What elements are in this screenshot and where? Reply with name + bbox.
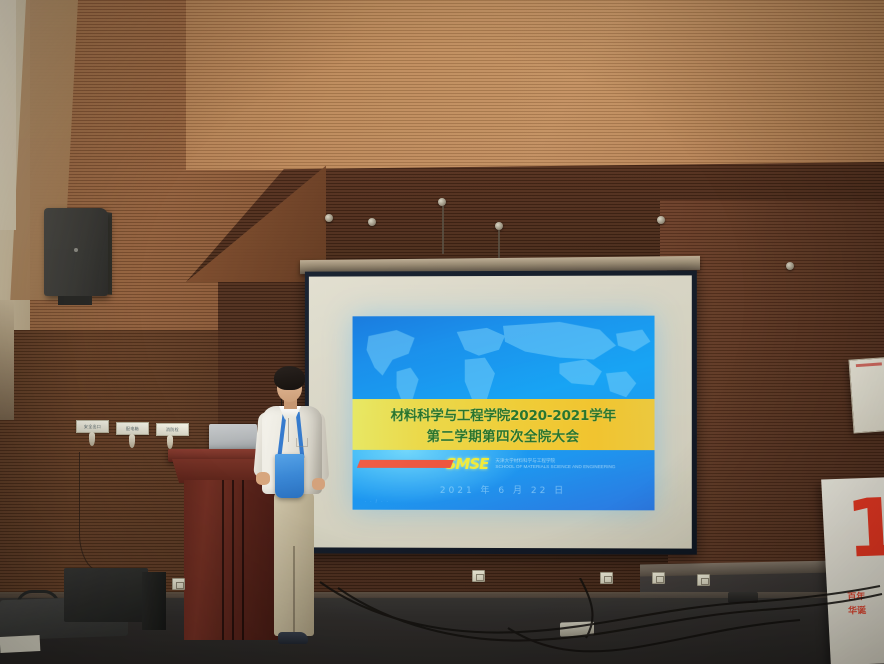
- wall-sign-3: 消防栓: [156, 423, 189, 436]
- sign-hook-3: [167, 435, 173, 449]
- screen-surface: 材料科学与工程学院2020-2021学年 第二学期第四次全院大会 SMSE 天津…: [309, 275, 692, 548]
- badge-holder: [275, 454, 304, 498]
- ceiling-spotlight-icon: [657, 216, 665, 224]
- logo-subtitle: 天津大学材料科学与工程学院 SCHOOL OF MATERIALS SCIENC…: [495, 458, 615, 471]
- logo-subtitle-en: SCHOOL OF MATERIALS SCIENCE AND ENGINEER…: [495, 464, 615, 470]
- ceiling-spotlight-icon: [495, 222, 503, 230]
- sign-hook-2: [129, 434, 135, 448]
- podium-groove: [222, 480, 224, 640]
- poster-number: 1: [844, 495, 884, 562]
- sign-hook-1: [89, 432, 95, 446]
- projection-screen: 材料科学与工程学院2020-2021学年 第二学期第四次全院大会 SMSE 天津…: [305, 270, 697, 554]
- spotlight-stem: [442, 206, 444, 254]
- presenter-hair: [274, 366, 305, 390]
- speaker-mount-bracket: [58, 296, 92, 305]
- framed-notice: [848, 356, 884, 433]
- floor-cables: [280, 578, 884, 664]
- slide-date: 2021 年 6 月 22 日: [353, 483, 655, 497]
- ceiling-spotlight-icon: [438, 198, 446, 206]
- podium-groove: [242, 480, 244, 640]
- slide-title-band: 材料科学与工程学院2020-2021学年 第二学期第四次全院大会: [353, 399, 655, 450]
- podium-groove: [232, 480, 234, 640]
- ceiling-spotlight-icon: [786, 262, 794, 270]
- ceiling-spotlight-icon: [368, 218, 376, 226]
- slide-title-line-1: 材料科学与工程学院2020-2021学年: [391, 404, 616, 424]
- wall-upper-right: [186, 0, 884, 170]
- hanging-cable: [79, 452, 101, 572]
- paper-on-floor: [0, 635, 40, 653]
- logo-red-bar: [357, 460, 453, 468]
- shirt-placket: [288, 418, 289, 442]
- presenter-right-hand: [312, 478, 325, 490]
- presenter-left-hand: [256, 472, 270, 485]
- smse-logo-icon: SMSE: [446, 455, 489, 473]
- shirt-pocket: [296, 438, 308, 447]
- equipment-case-b: [64, 568, 148, 622]
- equipment-case-c: [142, 572, 166, 630]
- loudspeaker-icon: [44, 208, 108, 296]
- notice-header-bar: [856, 362, 882, 367]
- slide-footer: · · / · ·: [365, 499, 390, 504]
- wall-outlet-icon: [172, 578, 185, 590]
- projected-slide: 材料科学与工程学院2020-2021学年 第二学期第四次全院大会 SMSE 天津…: [353, 316, 655, 511]
- photo-scene: 安全出口 配电箱 消防栓: [0, 0, 884, 664]
- slide-logo-row: SMSE 天津大学材料科学与工程学院 SCHOOL OF MATERIALS S…: [353, 453, 655, 477]
- world-map-graphic: [353, 316, 655, 408]
- left-wall-sliver: [0, 300, 14, 420]
- ceiling-spotlight-icon: [325, 214, 333, 222]
- slide-title-line-2: 第二学期第四次全院大会: [427, 425, 580, 445]
- left-column-highlight: [0, 0, 16, 230]
